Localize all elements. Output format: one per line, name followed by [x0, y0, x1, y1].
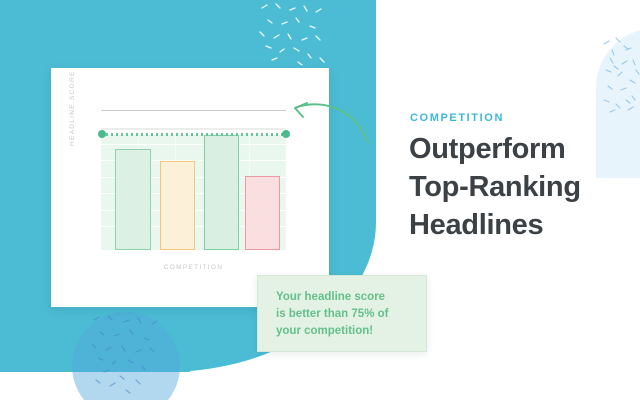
chart-plot-area: [101, 135, 286, 250]
callout-line: is better than 75% of: [276, 306, 416, 323]
score-callout-text: Your headline score is better than 75% o…: [276, 289, 416, 340]
promo-banner: HEADLINE SCORE COMPETITION C: [0, 0, 640, 400]
callout-line: your competition!: [276, 323, 416, 340]
speckle-texture-top-center: [252, 0, 330, 70]
headline-line: Outperform: [409, 130, 634, 168]
eyebrow-label: COMPETITION: [410, 112, 504, 124]
speckle-texture-bottom-left: [80, 310, 190, 400]
chart-bar: [245, 176, 280, 250]
speckle-texture-top-right: [560, 0, 640, 120]
chart-top-rule: [101, 110, 286, 111]
score-callout: Your headline score is better than 75% o…: [257, 275, 427, 352]
threshold-marker-left: [98, 130, 106, 138]
chart-y-axis-label: HEADLINE SCORE: [69, 36, 76, 146]
chart-bar: [160, 161, 195, 250]
page-title: Outperform Top-Ranking Headlines: [409, 130, 634, 244]
chart-x-axis-label: COMPETITION: [101, 264, 286, 271]
callout-line: Your headline score: [276, 289, 416, 306]
curved-arrow-left-icon: [283, 92, 373, 147]
chart-bar: [204, 135, 239, 250]
threshold-dotted-line: [101, 133, 286, 136]
chart-bar: [115, 149, 151, 250]
gridline-horizontal: [101, 144, 286, 145]
headline-line: Top-Ranking: [409, 168, 634, 206]
chart-second-rule: [101, 128, 286, 130]
headline-line: Headlines: [409, 206, 634, 244]
